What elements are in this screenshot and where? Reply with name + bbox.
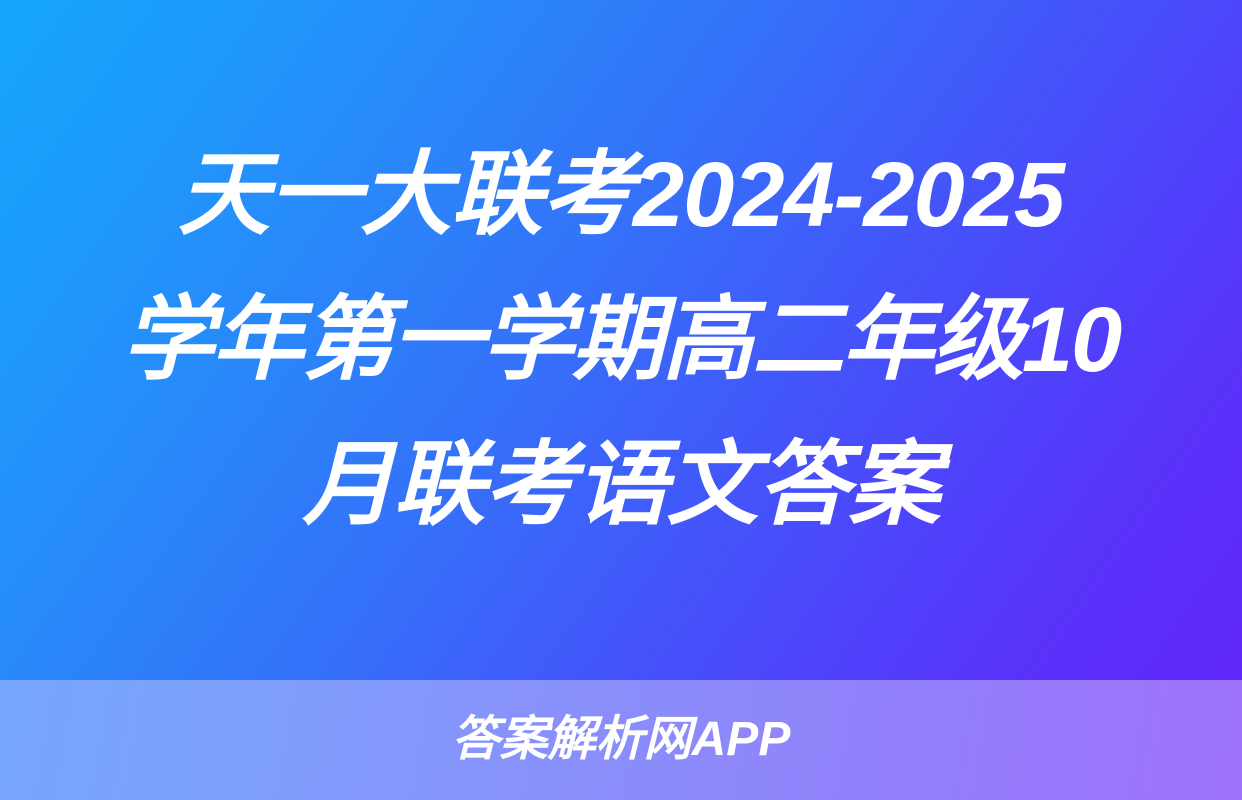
title-line-2: 学年第一学期高二年级10: [78, 268, 1164, 413]
cover-card: 天一大联考2024-2025 学年第一学期高二年级10 月联考语文答案 答案解析…: [0, 0, 1242, 800]
page-title: 天一大联考2024-2025 学年第一学期高二年级10 月联考语文答案: [78, 123, 1164, 558]
watermark-label: 答案解析网APP: [452, 712, 791, 768]
title-line-1: 天一大联考2024-2025: [78, 123, 1164, 268]
hero-gradient-background: 天一大联考2024-2025 学年第一学期高二年级10 月联考语文答案: [0, 0, 1242, 680]
title-line-3: 月联考语文答案: [78, 413, 1164, 558]
footer-watermark-bar: 答案解析网APP: [0, 680, 1242, 800]
